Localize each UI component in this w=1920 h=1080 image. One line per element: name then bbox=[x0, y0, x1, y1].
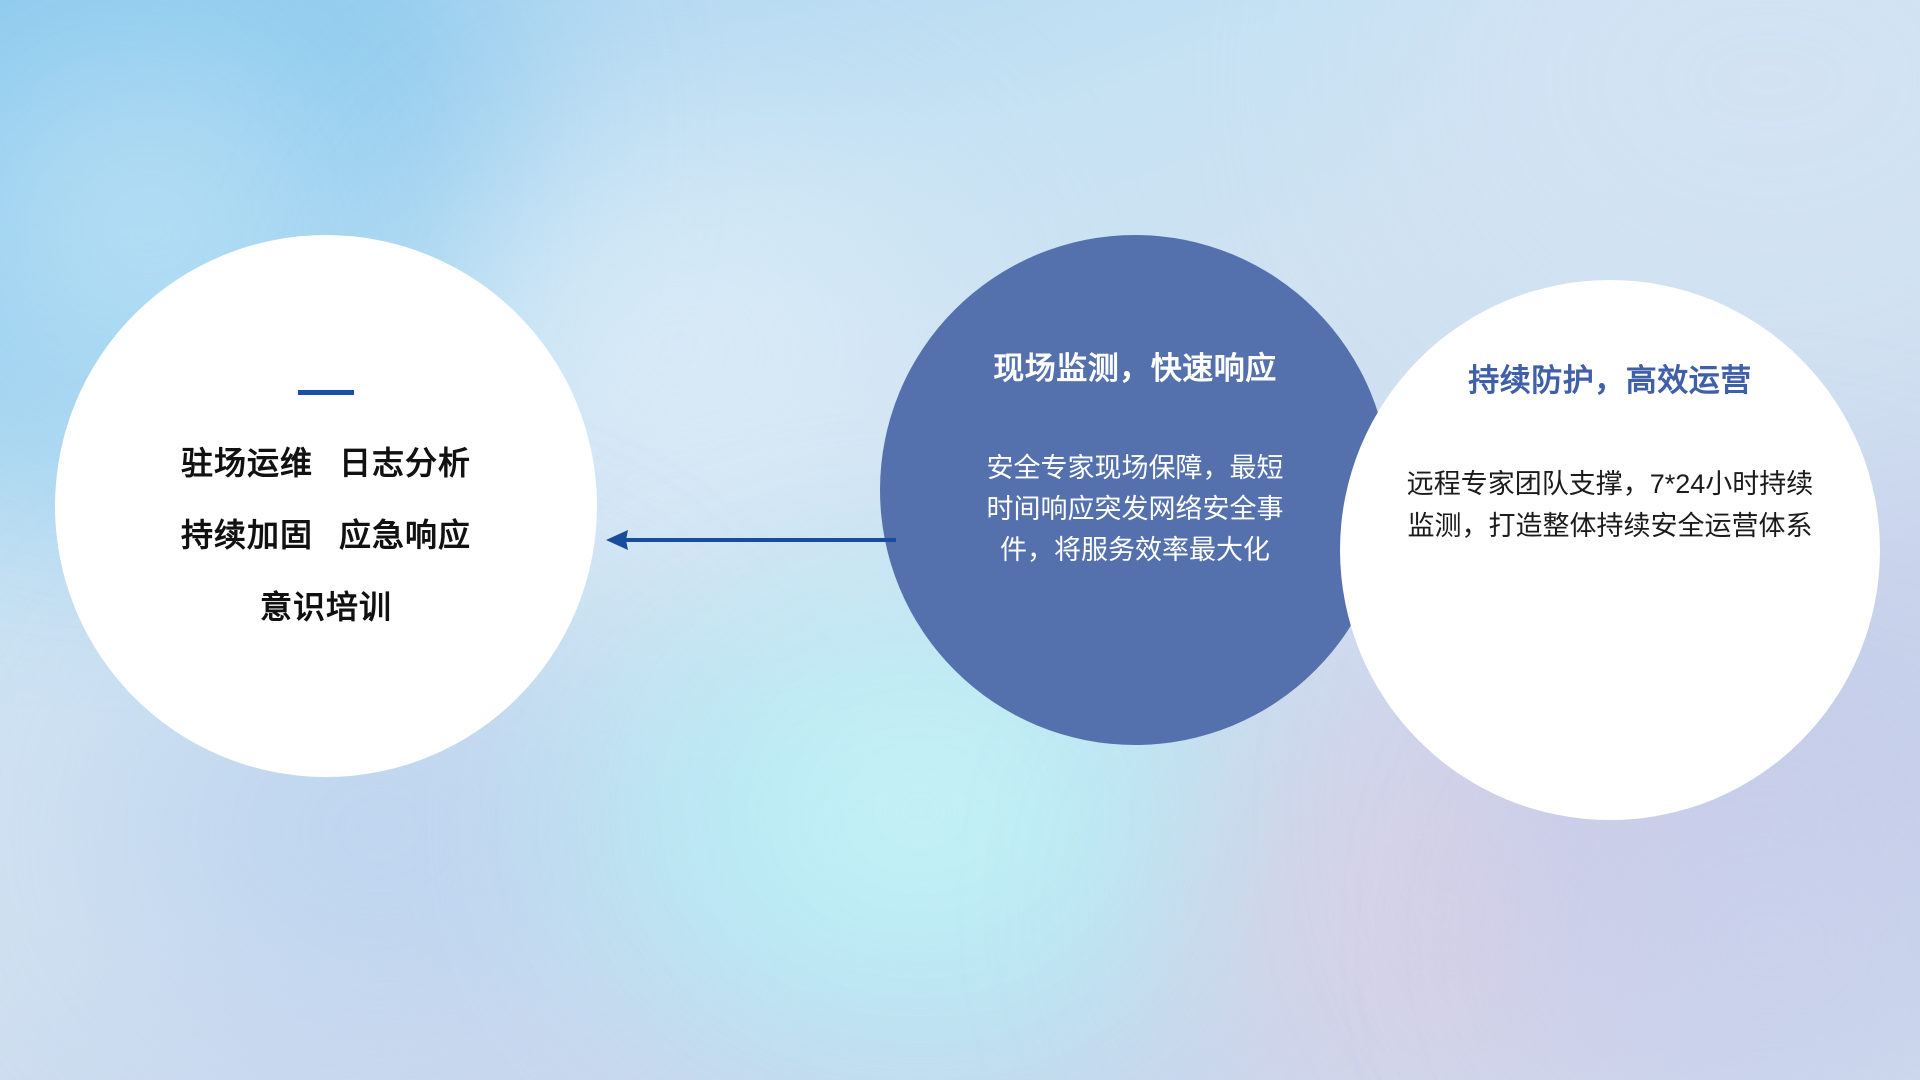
capability-row-2: 持续加固应急响应 bbox=[93, 519, 559, 551]
capability-label-continuous-hardening: 持续加固 bbox=[181, 517, 313, 553]
circle-onsite-monitoring[interactable]: 现场监测，快速响应 安全专家现场保障，最短时间响应突发网络安全事件，将服务效率最… bbox=[880, 235, 1390, 745]
circle-continuous-protection-title: 持续防护，高效运营 bbox=[1370, 355, 1850, 400]
capability-row-1: 驻场运维日志分析 bbox=[93, 447, 559, 479]
flow-arrow-left-icon bbox=[600, 520, 900, 560]
circle-onsite-monitoring-content: 现场监测，快速响应 安全专家现场保障，最短时间响应突发网络安全事件，将服务效率最… bbox=[880, 343, 1390, 571]
capability-label-awareness-training: 意识培训 bbox=[260, 589, 392, 625]
circle-continuous-protection-content: 持续防护，高效运营 远程专家团队支撑，7*24小时持续监测，打造整体持续安全运营… bbox=[1340, 355, 1880, 548]
circle-continuous-protection[interactable]: 持续防护，高效运营 远程专家团队支撑，7*24小时持续监测，打造整体持续安全运营… bbox=[1340, 280, 1880, 820]
slide-canvas: 现场监测，快速响应 安全专家现场保障，最短时间响应突发网络安全事件，将服务效率最… bbox=[0, 0, 1920, 1080]
circle-service-capabilities[interactable]: 驻场运维日志分析 持续加固应急响应 意识培训 bbox=[55, 235, 597, 777]
circle-service-capabilities-content: 驻场运维日志分析 持续加固应急响应 意识培训 bbox=[55, 390, 597, 623]
accent-dash-divider bbox=[298, 390, 354, 395]
circle-onsite-monitoring-title: 现场监测，快速响应 bbox=[904, 343, 1366, 388]
circle-continuous-protection-body: 远程专家团队支撑，7*24小时持续监测，打造整体持续安全运营体系 bbox=[1400, 464, 1820, 548]
capability-label-log-analysis: 日志分析 bbox=[339, 445, 471, 481]
capability-label-onsite-ops: 驻场运维 bbox=[181, 445, 313, 481]
capability-label-emergency-response: 应急响应 bbox=[339, 517, 471, 553]
capability-row-3: 意识培训 bbox=[93, 591, 559, 623]
circle-onsite-monitoring-body: 安全专家现场保障，最短时间响应突发网络安全事件，将服务效率最大化 bbox=[985, 448, 1285, 571]
